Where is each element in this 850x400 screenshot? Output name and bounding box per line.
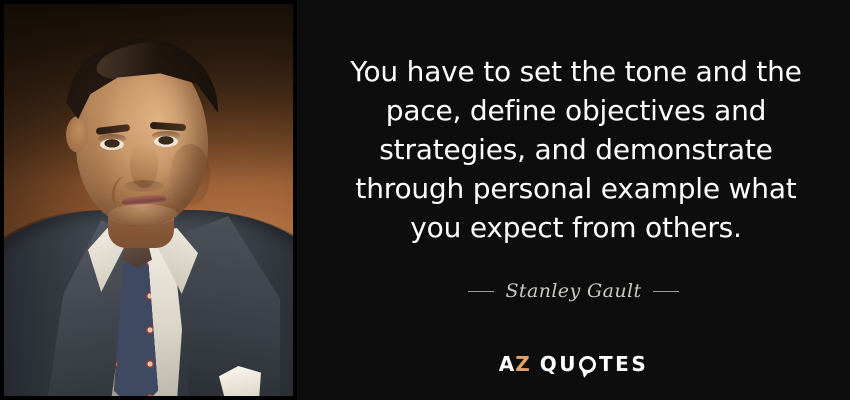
attribution-dash-left xyxy=(468,291,494,292)
attribution-dash-right xyxy=(653,291,679,292)
eye-right xyxy=(154,136,178,147)
cheek-shadow xyxy=(170,144,210,206)
chin xyxy=(108,204,178,226)
logo-letter-z: Z xyxy=(515,352,531,376)
portrait-panel xyxy=(0,0,297,400)
attribution: Stanley Gault xyxy=(297,280,850,302)
logo-quotes-prefix: QU xyxy=(540,352,578,376)
eye-left xyxy=(100,139,124,150)
ear xyxy=(66,116,88,152)
logo-quotes-wordmark: QUTES xyxy=(540,352,648,376)
quote-card: You have to set the tone and the pace, d… xyxy=(0,0,850,400)
speech-bubble-icon xyxy=(579,356,596,373)
az-quotes-logo[interactable]: AZ QUTES xyxy=(297,352,850,376)
logo-quotes-suffix: TES xyxy=(599,352,648,376)
quote-text: You have to set the tone and the pace, d… xyxy=(337,52,815,247)
logo-az-wordmark: AZ xyxy=(499,352,531,376)
attribution-author-name: Stanley Gault xyxy=(506,280,642,302)
portrait-image xyxy=(4,4,293,396)
quote-content-panel: You have to set the tone and the pace, d… xyxy=(297,0,850,400)
logo-letter-a: A xyxy=(499,352,515,376)
